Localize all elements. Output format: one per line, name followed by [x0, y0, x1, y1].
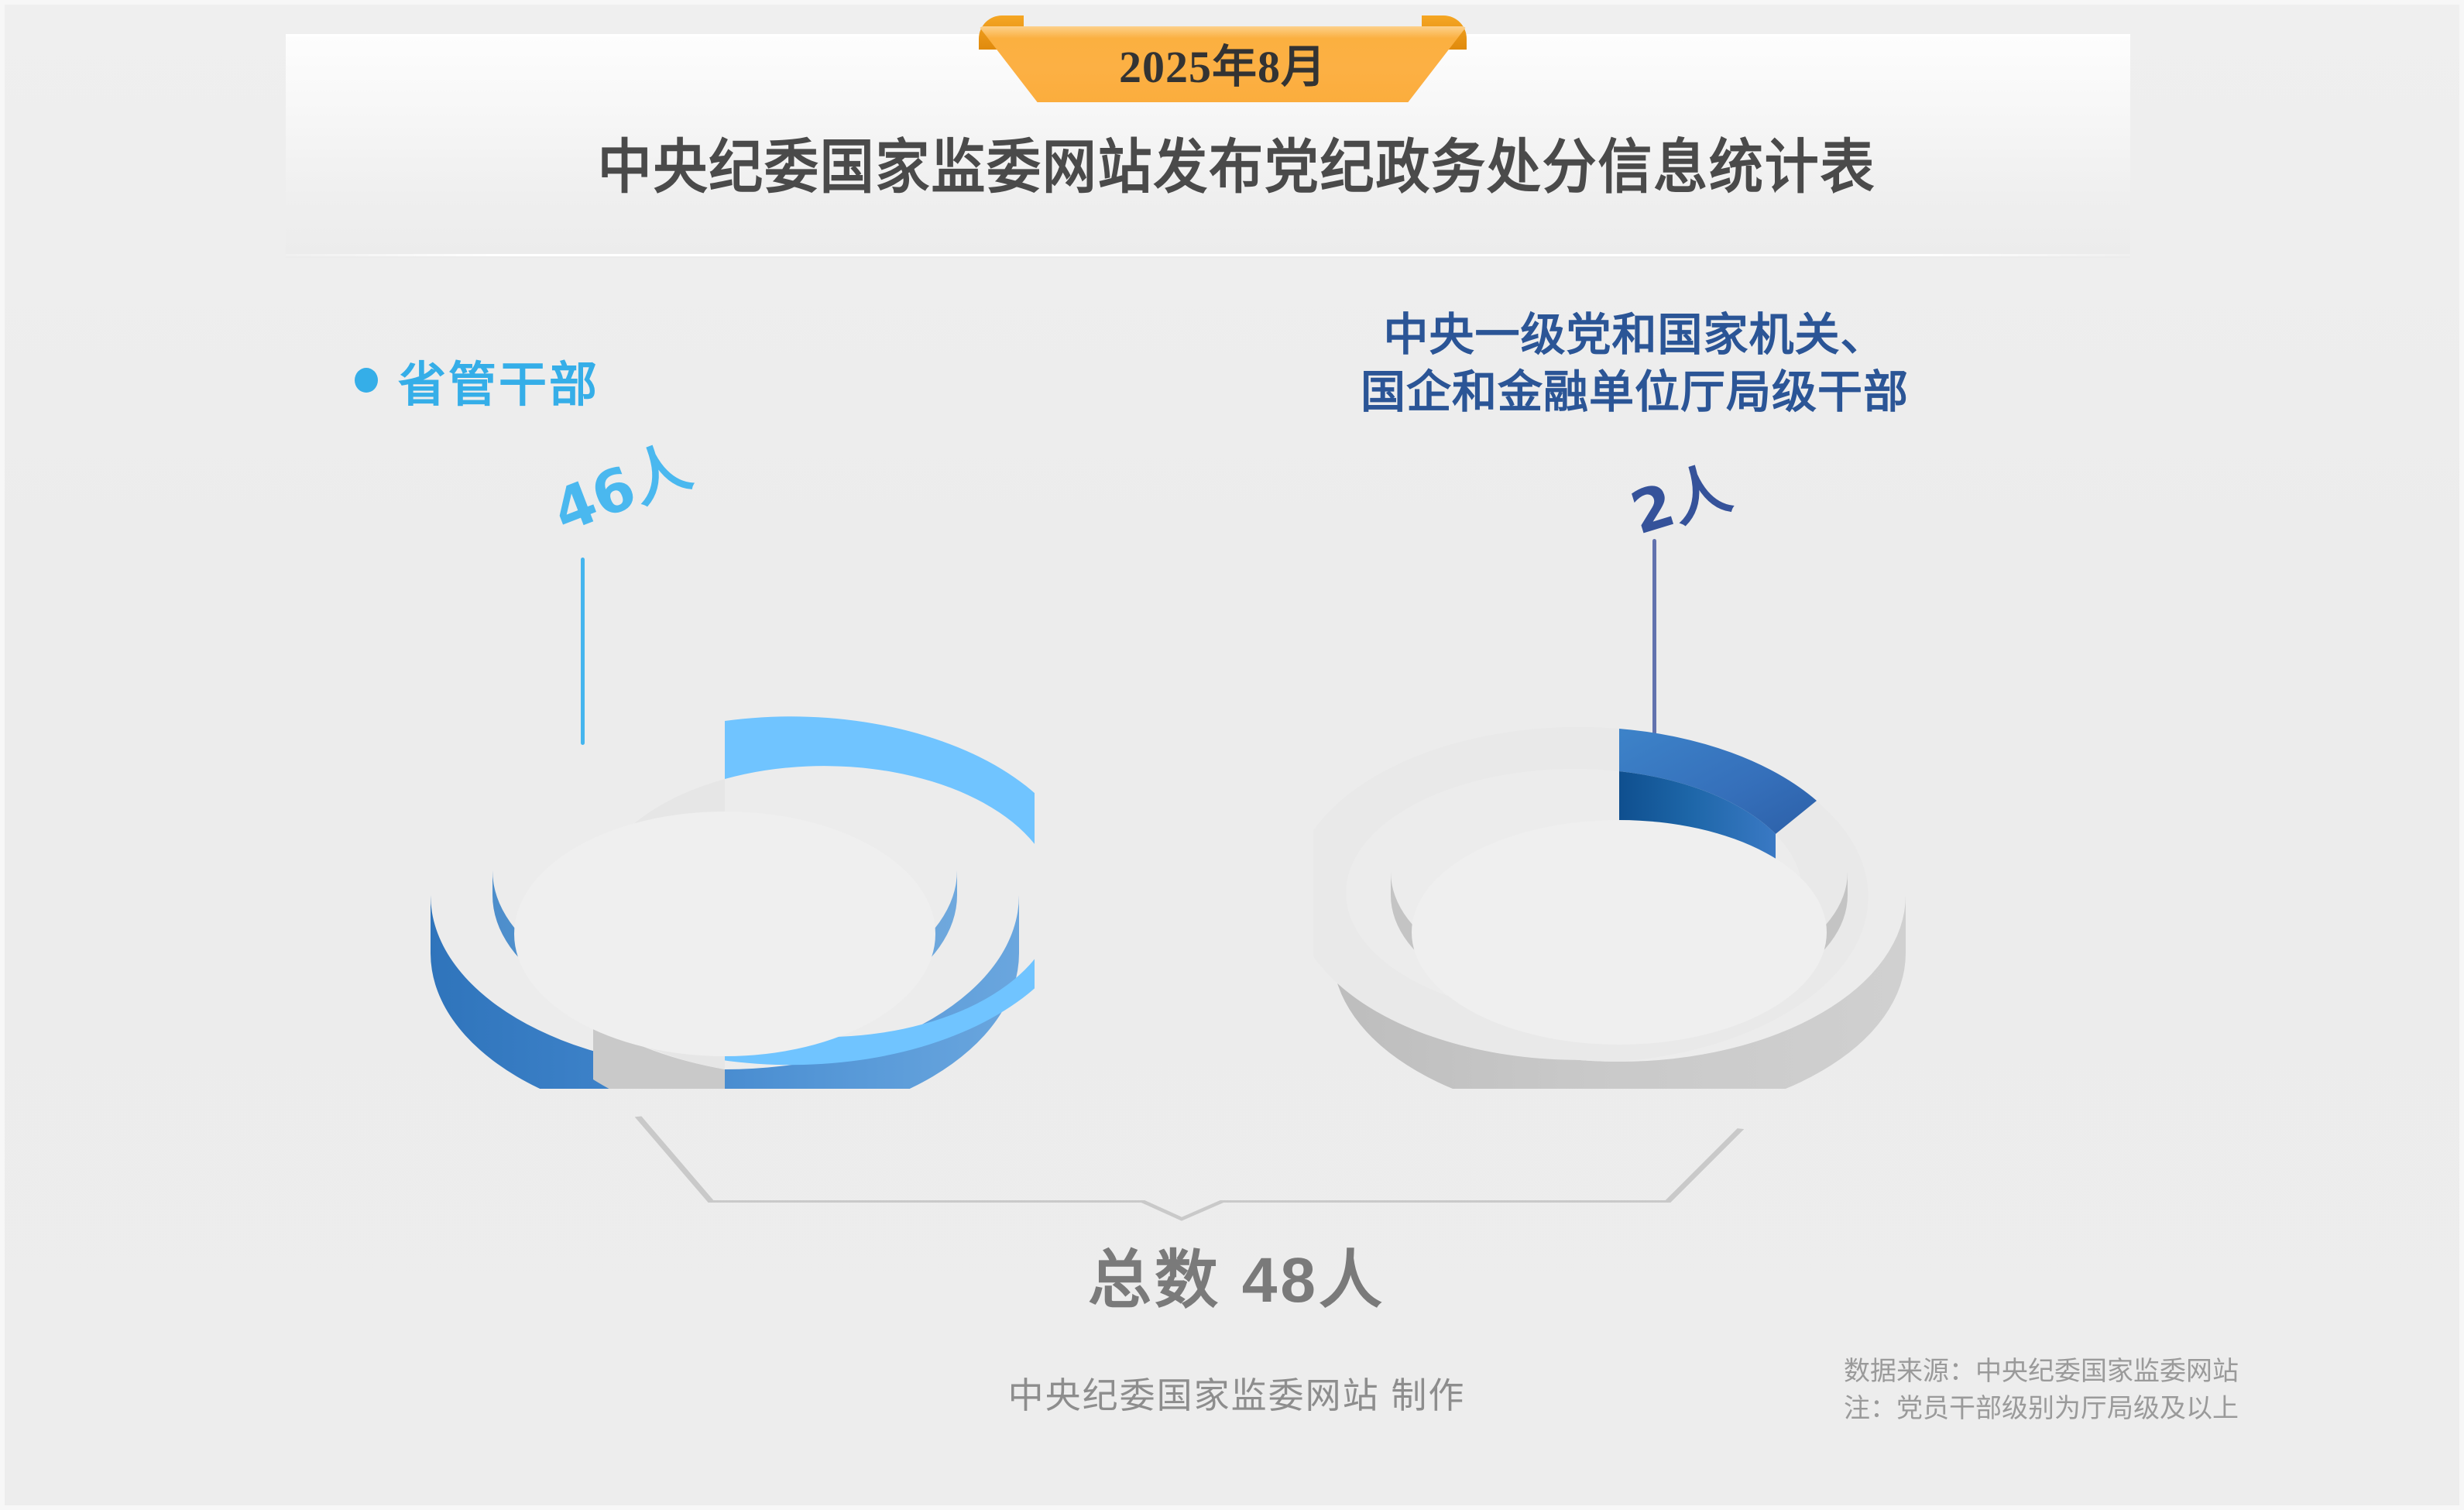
ribbon-body: 2025年8月: [979, 26, 1467, 102]
donut-chart-provincial: [415, 678, 1035, 1089]
note-text: 注：党员干部级别为厅局级及以上: [1844, 1391, 2239, 1428]
donut-chart-central: [1313, 686, 1925, 1089]
legend-label-central-line1: 中央一级党和国家机关、: [1244, 307, 2026, 364]
total-bracket: [593, 1089, 1910, 1232]
legend-item-provincial: 省管干部: [355, 345, 599, 415]
page-title: 中央纪委国家监委网站发布党纪政务处分信息统计表: [103, 119, 2370, 204]
infographic-canvas: 2025年8月 中央纪委国家监委网站发布党纪政务处分信息统计表 省管干部 中央一…: [0, 0, 2464, 1510]
value-label-central: 2人: [1619, 440, 1739, 551]
footer-notes: 数据来源：中央纪委国家监委网站 注：党员干部级别为厅局级及以上: [1844, 1354, 2239, 1429]
total-label: 总数 48人: [5, 1228, 2464, 1320]
header-divider: [286, 254, 2130, 256]
value-label-provincial: 46人: [539, 419, 701, 549]
data-source-text: 数据来源：中央纪委国家监委网站: [1844, 1354, 2239, 1391]
legend-label-central-line2: 国企和金融单位厅局级干部: [1244, 364, 2026, 421]
bullet-dot-icon: [355, 368, 378, 393]
legend-item-central: 中央一级党和国家机关、 国企和金融单位厅局级干部: [1244, 307, 2026, 421]
legend-label-provincial: 省管干部: [398, 345, 599, 415]
period-badge: 2025年8月: [979, 15, 1467, 102]
period-badge-label: 2025年8月: [1119, 45, 1326, 90]
